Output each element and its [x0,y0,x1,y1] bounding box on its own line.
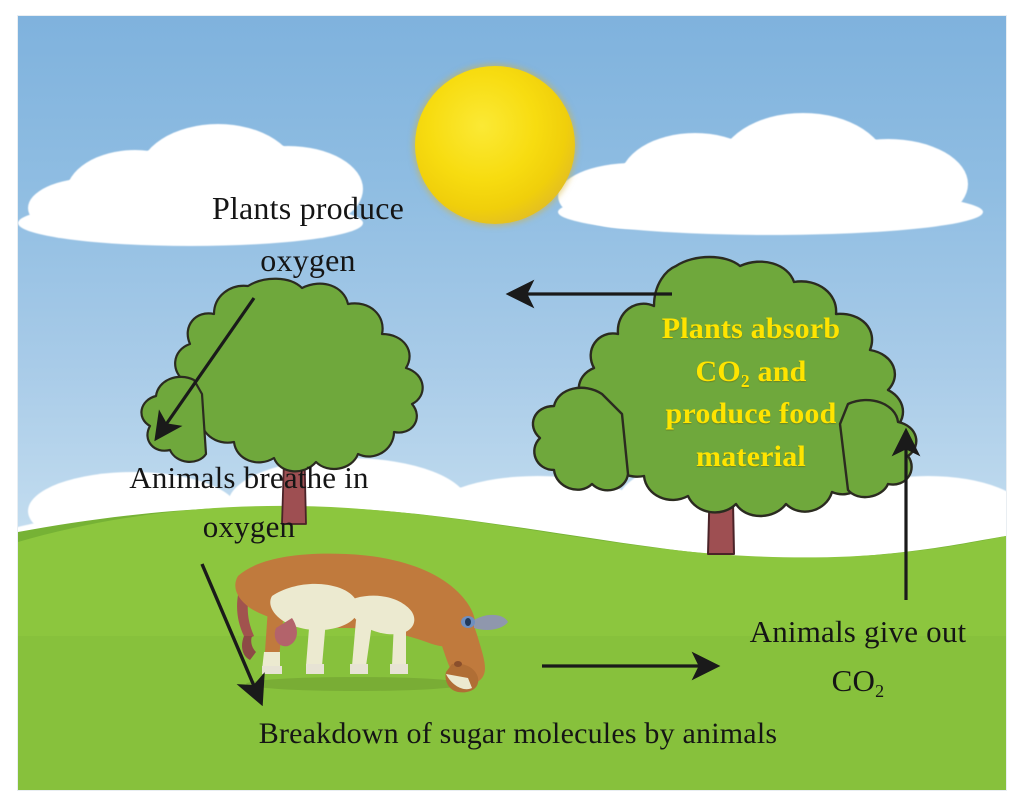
label-line: oxygen [84,509,414,546]
caption-text: Breakdown of sugar molecules by animals [259,717,778,750]
label-line: Animals breathe in [84,460,414,497]
label-and-text: and [750,355,807,388]
label-line: Plants absorb [616,308,886,351]
label-line: Plants produce [168,190,448,228]
arrow-animals-give-out-right [530,646,730,686]
label-co2-text: CO [832,663,875,698]
label-line: produce food [616,393,886,436]
label-plants-absorb-co2: Plants absorb CO2 and produce food mater… [616,308,886,478]
label-breakdown-caption: Breakdown of sugar molecules by animals [148,716,888,751]
label-line: Animals give out [708,614,1006,651]
label-co2-subscript: 2 [741,371,750,391]
label-line: material [616,436,886,479]
label-co2-subscript: 2 [875,681,884,701]
label-plants-produce-oxygen: Plants produce oxygen [168,190,448,280]
label-line: oxygen [168,242,448,280]
arrow-breakdown-down [186,554,296,719]
label-animals-give-out-co2: Animals give out CO2 [708,614,1006,699]
label-co2-text: CO [696,355,741,388]
label-animals-breathe-in-oxygen: Animals breathe in oxygen [84,460,414,545]
illustration-canvas: Plants produce oxygen Animals breathe in… [0,0,1024,806]
label-line: CO2 [708,663,1006,700]
diagram-frame: Plants produce oxygen Animals breathe in… [18,16,1006,790]
label-line: CO2 and [616,351,886,394]
arrow-oxygen-down-left [136,284,276,454]
arrow-co2-up-to-tree [884,420,944,610]
